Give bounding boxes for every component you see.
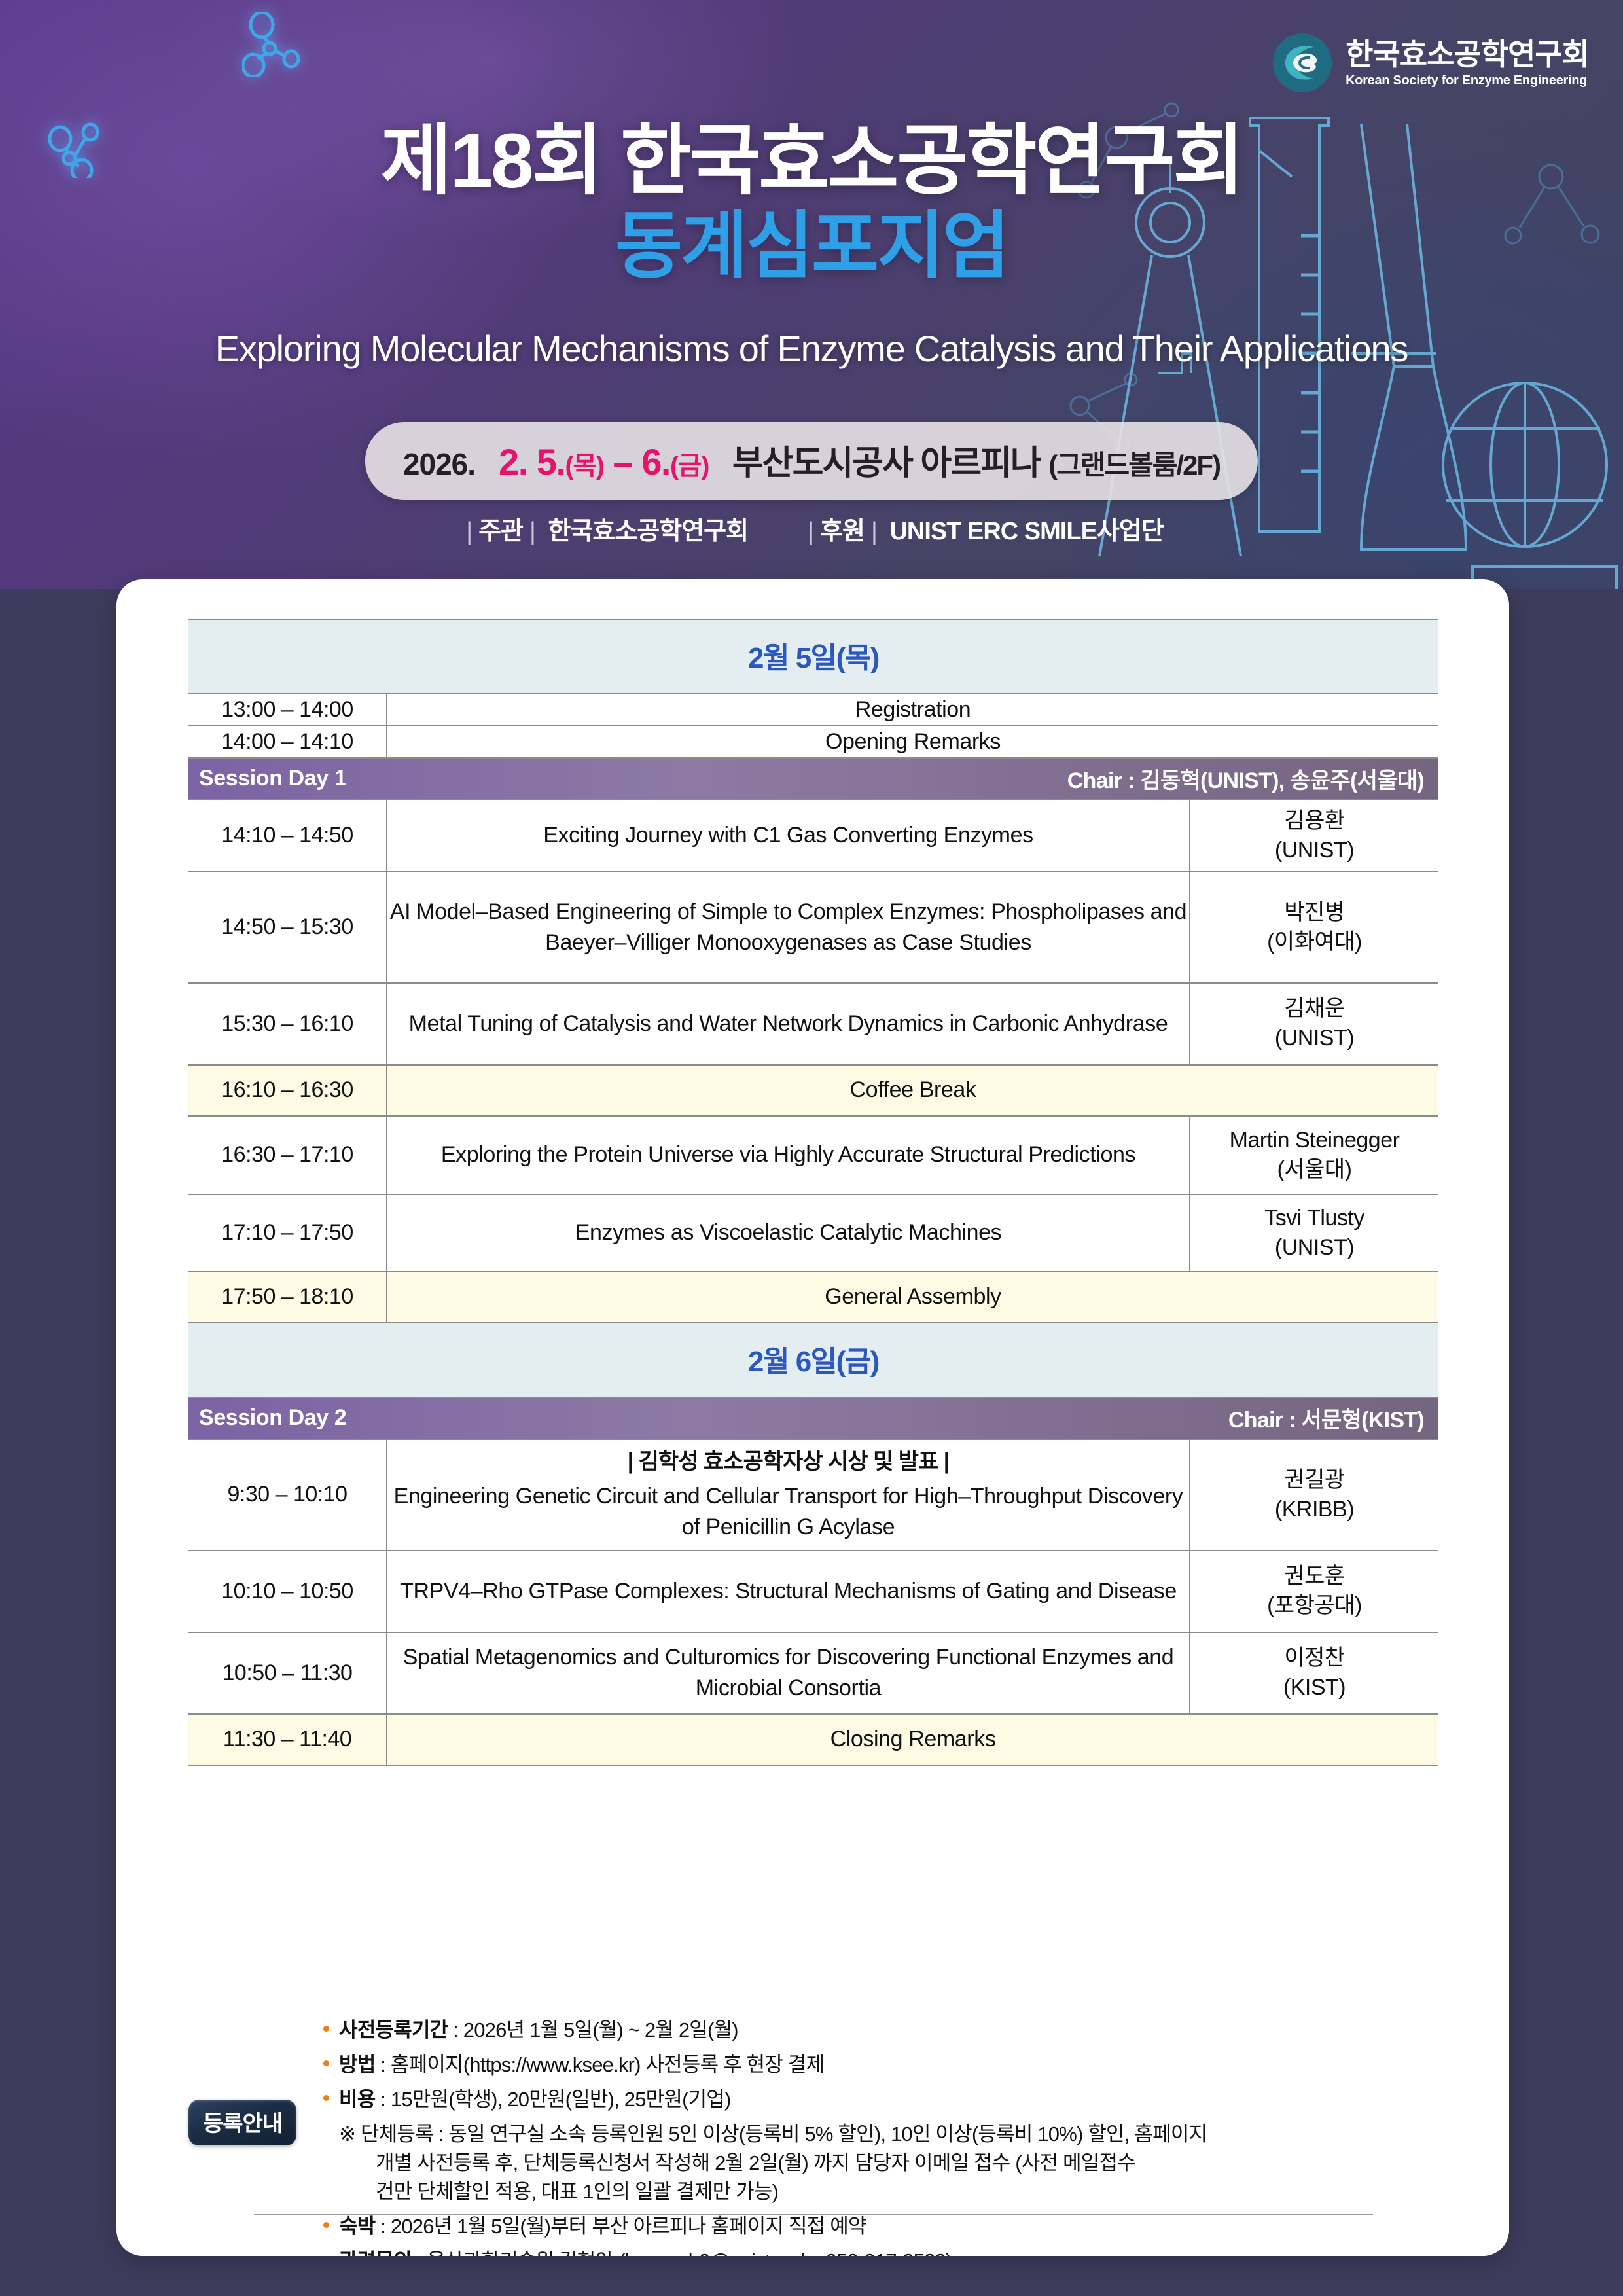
table-row: 14:10 – 14:50 Exciting Journey with C1 G…	[188, 800, 1438, 872]
table-row: 17:10 – 17:50 Enzymes as Viscoelastic Ca…	[188, 1194, 1438, 1272]
speaker-affiliation: (이화여대)	[1267, 929, 1362, 954]
speaker-name: 권길광	[1284, 1467, 1344, 1492]
row-speaker: 박진병 (이화여대)	[1190, 872, 1438, 983]
note-text: : 울산과학기술원 김현아 (hyun_ah0@unist.ac.kr, 052…	[412, 2250, 952, 2256]
row-title: Metal Tuning of Catalysis and Water Netw…	[387, 983, 1190, 1065]
note-label: 비용	[339, 2088, 375, 2111]
row-title: | 김학성 효소공학자상 시상 및 발표 | Engineering Genet…	[387, 1439, 1190, 1551]
poster-hero: 한국효소공학연구회 Korean Society for Enzyme Engi…	[0, 0, 1623, 589]
note-text: : 홈페이지(https://www.ksee.kr) 사전등록 후 현장 결제	[375, 2053, 824, 2076]
table-row: 9:30 – 10:10 | 김학성 효소공학자상 시상 및 발표 | Engi…	[188, 1439, 1438, 1551]
society-logo-en: Korean Society for Enzyme Engineering	[1346, 74, 1589, 87]
poster-title-block: 제18회 한국효소공학연구회 동계심포지엄	[0, 121, 1623, 284]
note-label: 관련문의	[339, 2250, 412, 2256]
host-label: 주관	[478, 518, 523, 545]
note-text: : 2026년 1월 5일(월)부터 부산 아르피나 홈페이지 직접 예약	[375, 2215, 866, 2238]
table-row: 14:50 – 15:30 AI Model–Based Engineering…	[188, 872, 1438, 983]
society-logo-kr: 한국효소공학연구회	[1346, 39, 1589, 69]
molecule-icon	[242, 12, 301, 77]
row-title: General Assembly	[387, 1272, 1438, 1323]
venue-room: (그랜드볼룸/2F)	[1048, 450, 1220, 480]
day2-header: 2월 6일(금)	[188, 1323, 1438, 1397]
date-end-dow: (금)	[670, 452, 709, 480]
speaker-affiliation: (UNIST)	[1275, 1235, 1354, 1260]
speaker-affiliation: (UNIST)	[1275, 1026, 1354, 1050]
date-start: 2. 5.	[499, 441, 565, 482]
table-row: 16:30 – 17:10 Exploring the Protein Univ…	[188, 1116, 1438, 1194]
row-time: 10:10 – 10:50	[188, 1551, 387, 1632]
poster-title-line1: 제18회 한국효소공학연구회	[0, 121, 1623, 202]
speaker-name: 권도훈	[1284, 1564, 1344, 1588]
row-title: AI Model–Based Engineering of Simple to …	[387, 872, 1190, 983]
row-time: 11:30 – 11:40	[188, 1714, 387, 1765]
speaker-affiliation: (KRIBB)	[1275, 1497, 1354, 1522]
row-time: 13:00 – 14:00	[188, 694, 387, 726]
note-item: 비용 : 15만원(학생), 20만원(일반), 25만원(기업)	[319, 2085, 1438, 2114]
speaker-affiliation: (UNIST)	[1275, 838, 1354, 863]
note-item: 방법 : 홈페이지(https://www.ksee.kr) 사전등록 후 현장…	[319, 2051, 1438, 2079]
session-day1-label: Session Day 1	[199, 766, 346, 791]
group-note-line3: 건만 단체할인 적용, 대표 1인의 일괄 결제만 가능)	[339, 2178, 1438, 2206]
row-time: 9:30 – 10:10	[188, 1439, 387, 1551]
award-talk-title: Engineering Genetic Circuit and Cellular…	[394, 1484, 1183, 1539]
note-item: 사전등록기간 : 2026년 1월 5일(월) ~ 2월 2일(월)	[319, 2016, 1438, 2045]
note-item: 숙박 : 2026년 1월 5일(월)부터 부산 아르피나 홈페이지 직접 예약	[319, 2212, 1438, 2241]
poster-title-line2: 동계심포지엄	[0, 207, 1623, 285]
date-dash: –	[603, 441, 641, 482]
row-title: Exploring the Protein Universe via Highl…	[387, 1116, 1190, 1194]
row-title: Enzymes as Viscoelastic Catalytic Machin…	[387, 1194, 1190, 1272]
group-note-line1: ※ 단체등록 : 동일 연구실 소속 등록인원 5인 이상(등록비 5% 할인)…	[339, 2123, 1207, 2145]
row-speaker: 김용환 (UNIST)	[1190, 800, 1438, 872]
row-time: 16:30 – 17:10	[188, 1116, 387, 1194]
speaker-name: 박진병	[1284, 900, 1344, 925]
table-row: 14:00 – 14:10 Opening Remarks	[188, 726, 1438, 758]
host-value: 한국효소공학연구회	[548, 518, 748, 545]
schedule-card: 2월 5일(목) 13:00 – 14:00 Registration 14:0…	[116, 579, 1509, 2256]
table-row: 10:10 – 10:50 TRPV4–Rho GTPase Complexes…	[188, 1551, 1438, 1632]
row-title: Registration	[387, 694, 1438, 726]
row-title: Spatial Metagenomics and Culturomics for…	[387, 1632, 1190, 1714]
registration-badge-col: 등록안내	[188, 2016, 319, 2145]
speaker-name: Tsvi Tlusty	[1264, 1206, 1364, 1230]
table-row-break: 17:50 – 18:10 General Assembly	[188, 1272, 1438, 1323]
schedule-table: 2월 5일(목) 13:00 – 14:00 Registration 14:0…	[188, 619, 1438, 1766]
session-day2-bar-row: Session Day 2 Chair : 서문형(KIST)	[188, 1397, 1438, 1439]
registration-notes: 등록안내 사전등록기간 : 2026년 1월 5일(월) ~ 2월 2일(월) …	[188, 2016, 1438, 2256]
row-time: 17:10 – 17:50	[188, 1194, 387, 1272]
session-day2-label: Session Day 2	[199, 1405, 346, 1431]
table-row-break: 11:30 – 11:40 Closing Remarks	[188, 1714, 1438, 1765]
sponsor-label: 후원	[820, 518, 865, 545]
row-time: 14:00 – 14:10	[188, 726, 387, 758]
society-logo-mark	[1271, 31, 1334, 94]
note-text: : 15만원(학생), 20만원(일반), 25만원(기업)	[375, 2088, 730, 2111]
date-end: 6.	[641, 441, 670, 482]
row-time: 15:30 – 16:10	[188, 983, 387, 1065]
session-day1-bar-row: Session Day 1 Chair : 김동혁(UNIST), 송윤주(서울…	[188, 758, 1438, 800]
note-label: 숙박	[339, 2215, 375, 2238]
speaker-name: 이정찬	[1284, 1645, 1344, 1670]
day2-header-row: 2월 6일(금)	[188, 1323, 1438, 1397]
row-title: Exciting Journey with C1 Gas Converting …	[387, 800, 1190, 872]
sponsor-value: UNIST ERC SMILE사업단	[889, 518, 1163, 545]
speaker-name: 김채운	[1284, 996, 1344, 1021]
session-day1-bar: Session Day 1 Chair : 김동혁(UNIST), 송윤주(서울…	[188, 758, 1438, 800]
note-text: : 2026년 1월 5일(월) ~ 2월 2일(월)	[448, 2018, 738, 2041]
day1-header: 2월 5일(목)	[188, 619, 1438, 694]
date-start-dow: (목)	[565, 452, 604, 480]
organizer-line: |주관| 한국효소공학연구회 |후원| UNIST ERC SMILE사업단	[0, 511, 1623, 547]
speaker-name: 김용환	[1284, 808, 1344, 833]
row-title: TRPV4–Rho GTPase Complexes: Structural M…	[387, 1551, 1190, 1632]
row-time: 14:50 – 15:30	[188, 872, 387, 983]
row-title: Opening Remarks	[387, 726, 1438, 758]
group-note-line2: 개별 사전등록 후, 단체등록신청서 작성해 2월 2일(월) 까지 담당자 이…	[339, 2149, 1438, 2178]
row-time: 10:50 – 11:30	[188, 1632, 387, 1714]
row-time: 16:10 – 16:30	[188, 1065, 387, 1116]
venue-name: 부산도시공사 아르피나	[732, 444, 1041, 482]
row-speaker: Martin Steinegger (서울대)	[1190, 1116, 1438, 1194]
registration-badge: 등록안내	[188, 2100, 296, 2145]
row-time: 14:10 – 14:50	[188, 800, 387, 872]
row-time: 17:50 – 18:10	[188, 1272, 387, 1323]
row-speaker: 권길광 (KRIBB)	[1190, 1439, 1438, 1551]
day1-header-row: 2월 5일(목)	[188, 619, 1438, 694]
speaker-affiliation: (서울대)	[1277, 1157, 1352, 1182]
row-title: Coffee Break	[387, 1065, 1438, 1116]
session-day2-bar: Session Day 2 Chair : 서문형(KIST)	[188, 1397, 1438, 1439]
footer-divider	[254, 2214, 1373, 2215]
note-label: 방법	[339, 2053, 375, 2076]
row-speaker: Tsvi Tlusty (UNIST)	[1190, 1194, 1438, 1272]
note-group-registration: ※ 단체등록 : 동일 연구실 소속 등록인원 5인 이상(등록비 5% 할인)…	[319, 2120, 1438, 2206]
speaker-name: Martin Steinegger	[1230, 1128, 1400, 1153]
row-speaker: 이정찬 (KIST)	[1190, 1632, 1438, 1714]
session-day2-chair: Chair : 서문형(KIST)	[1228, 1402, 1424, 1434]
row-speaker: 권도훈 (포항공대)	[1190, 1551, 1438, 1632]
row-speaker: 김채운 (UNIST)	[1190, 983, 1438, 1065]
venue: 부산도시공사 아르피나 (그랜드볼룸/2F)	[732, 435, 1220, 484]
society-logo: 한국효소공학연구회 Korean Society for Enzyme Engi…	[1271, 31, 1589, 94]
table-row: 13:00 – 14:00 Registration	[188, 694, 1438, 726]
table-row: 15:30 – 16:10 Metal Tuning of Catalysis …	[188, 983, 1438, 1065]
award-heading: | 김학성 효소공학자상 시상 및 발표 |	[387, 1446, 1189, 1477]
session-day1-chair: Chair : 김동혁(UNIST), 송윤주(서울대)	[1067, 762, 1424, 795]
date-range: 2. 5.(목) – 6.(금)	[499, 440, 709, 483]
table-row: 10:50 – 11:30 Spatial Metagenomics and C…	[188, 1632, 1438, 1714]
poster-subtitle: Exploring Molecular Mechanisms of Enzyme…	[0, 327, 1623, 370]
row-title: Closing Remarks	[387, 1714, 1438, 1765]
note-item: 관련문의 : 울산과학기술원 김현아 (hyun_ah0@unist.ac.kr…	[319, 2247, 1438, 2256]
date-venue-pill: 2026. 2. 5.(목) – 6.(금) 부산도시공사 아르피나 (그랜드볼…	[365, 422, 1258, 500]
table-row-break: 16:10 – 16:30 Coffee Break	[188, 1065, 1438, 1116]
registration-notes-list: 사전등록기간 : 2026년 1월 5일(월) ~ 2월 2일(월) 방법 : …	[319, 2016, 1438, 2256]
note-label: 사전등록기간	[339, 2018, 448, 2041]
speaker-affiliation: (포항공대)	[1267, 1593, 1362, 1618]
date-year: 2026.	[403, 446, 475, 482]
speaker-affiliation: (KIST)	[1283, 1675, 1346, 1700]
